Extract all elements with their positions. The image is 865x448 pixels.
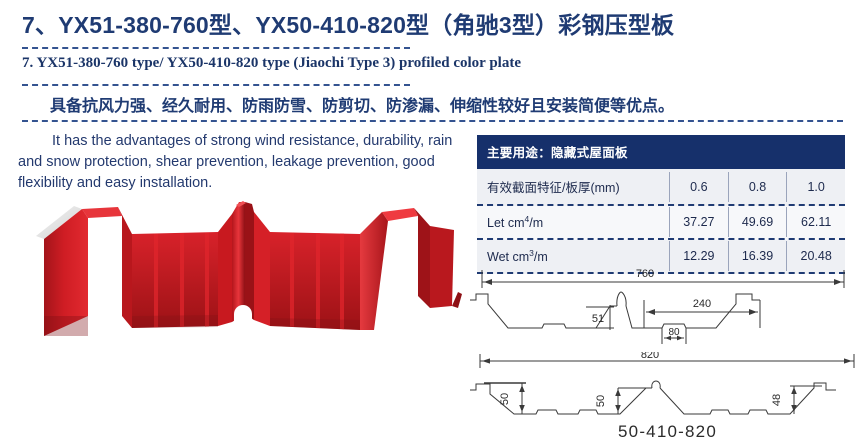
divider-top bbox=[22, 47, 410, 49]
description-paragraph: It has the advantages of strong wind res… bbox=[18, 131, 460, 194]
table-row: 有效截面特征/板厚(mm) 0.6 0.8 1.0 bbox=[477, 169, 845, 206]
dimension-left-50: 50 bbox=[499, 393, 511, 405]
row-label-text: Let cm bbox=[487, 216, 525, 230]
technical-drawing-760: 760 51 240 80 bbox=[470, 266, 865, 361]
cell-value: 62.11 bbox=[786, 207, 845, 237]
row-label: 有效截面特征/板厚(mm) bbox=[477, 169, 669, 204]
page-title: 7、YX51-380-760型、YX50-410-820型（角驰3型）彩钢压型板 bbox=[22, 6, 852, 40]
spec-table-header: 主要用途：隐藏式屋面板 bbox=[477, 135, 845, 169]
divider-bottom bbox=[22, 120, 843, 122]
technical-drawing-820: 820 50 50 48 bbox=[470, 352, 865, 430]
cell-value: 0.6 bbox=[669, 172, 728, 202]
table-row: Let cm4/m 37.27 49.69 62.11 bbox=[477, 206, 845, 240]
row-label: Let cm4/m bbox=[477, 206, 669, 238]
cell-value: 49.69 bbox=[728, 207, 787, 237]
dimension-240: 240 bbox=[693, 298, 711, 310]
cell-value: 1.0 bbox=[786, 172, 845, 202]
drawing-caption: 50-410-820 bbox=[470, 422, 865, 442]
cell-value: 0.8 bbox=[728, 172, 787, 202]
page-title-english: 7. YX51-380-760 type/ YX50-410-820 type … bbox=[22, 55, 822, 72]
subtitle-chinese: 具备抗风力强、经久耐用、防雨防雪、防剪切、防渗漏、伸缩性较好且安装简便等优点。 bbox=[50, 92, 850, 116]
dimension-mid-50: 50 bbox=[595, 395, 607, 407]
dimension-760: 760 bbox=[636, 268, 654, 280]
cell-value: 37.27 bbox=[669, 207, 728, 237]
dimension-80: 80 bbox=[668, 327, 680, 338]
dimension-820: 820 bbox=[641, 352, 659, 361]
dimension-51: 51 bbox=[592, 313, 604, 325]
row-label-tail: /m bbox=[534, 250, 548, 264]
spec-table: 主要用途：隐藏式屋面板 有效截面特征/板厚(mm) 0.6 0.8 1.0 Le… bbox=[477, 135, 845, 274]
dimension-right-48: 48 bbox=[771, 394, 783, 406]
row-label-text: Wet cm bbox=[487, 250, 529, 264]
row-label-tail: /m bbox=[529, 216, 543, 230]
product-photo-red-panel bbox=[22, 196, 462, 344]
divider-middle bbox=[22, 84, 410, 86]
